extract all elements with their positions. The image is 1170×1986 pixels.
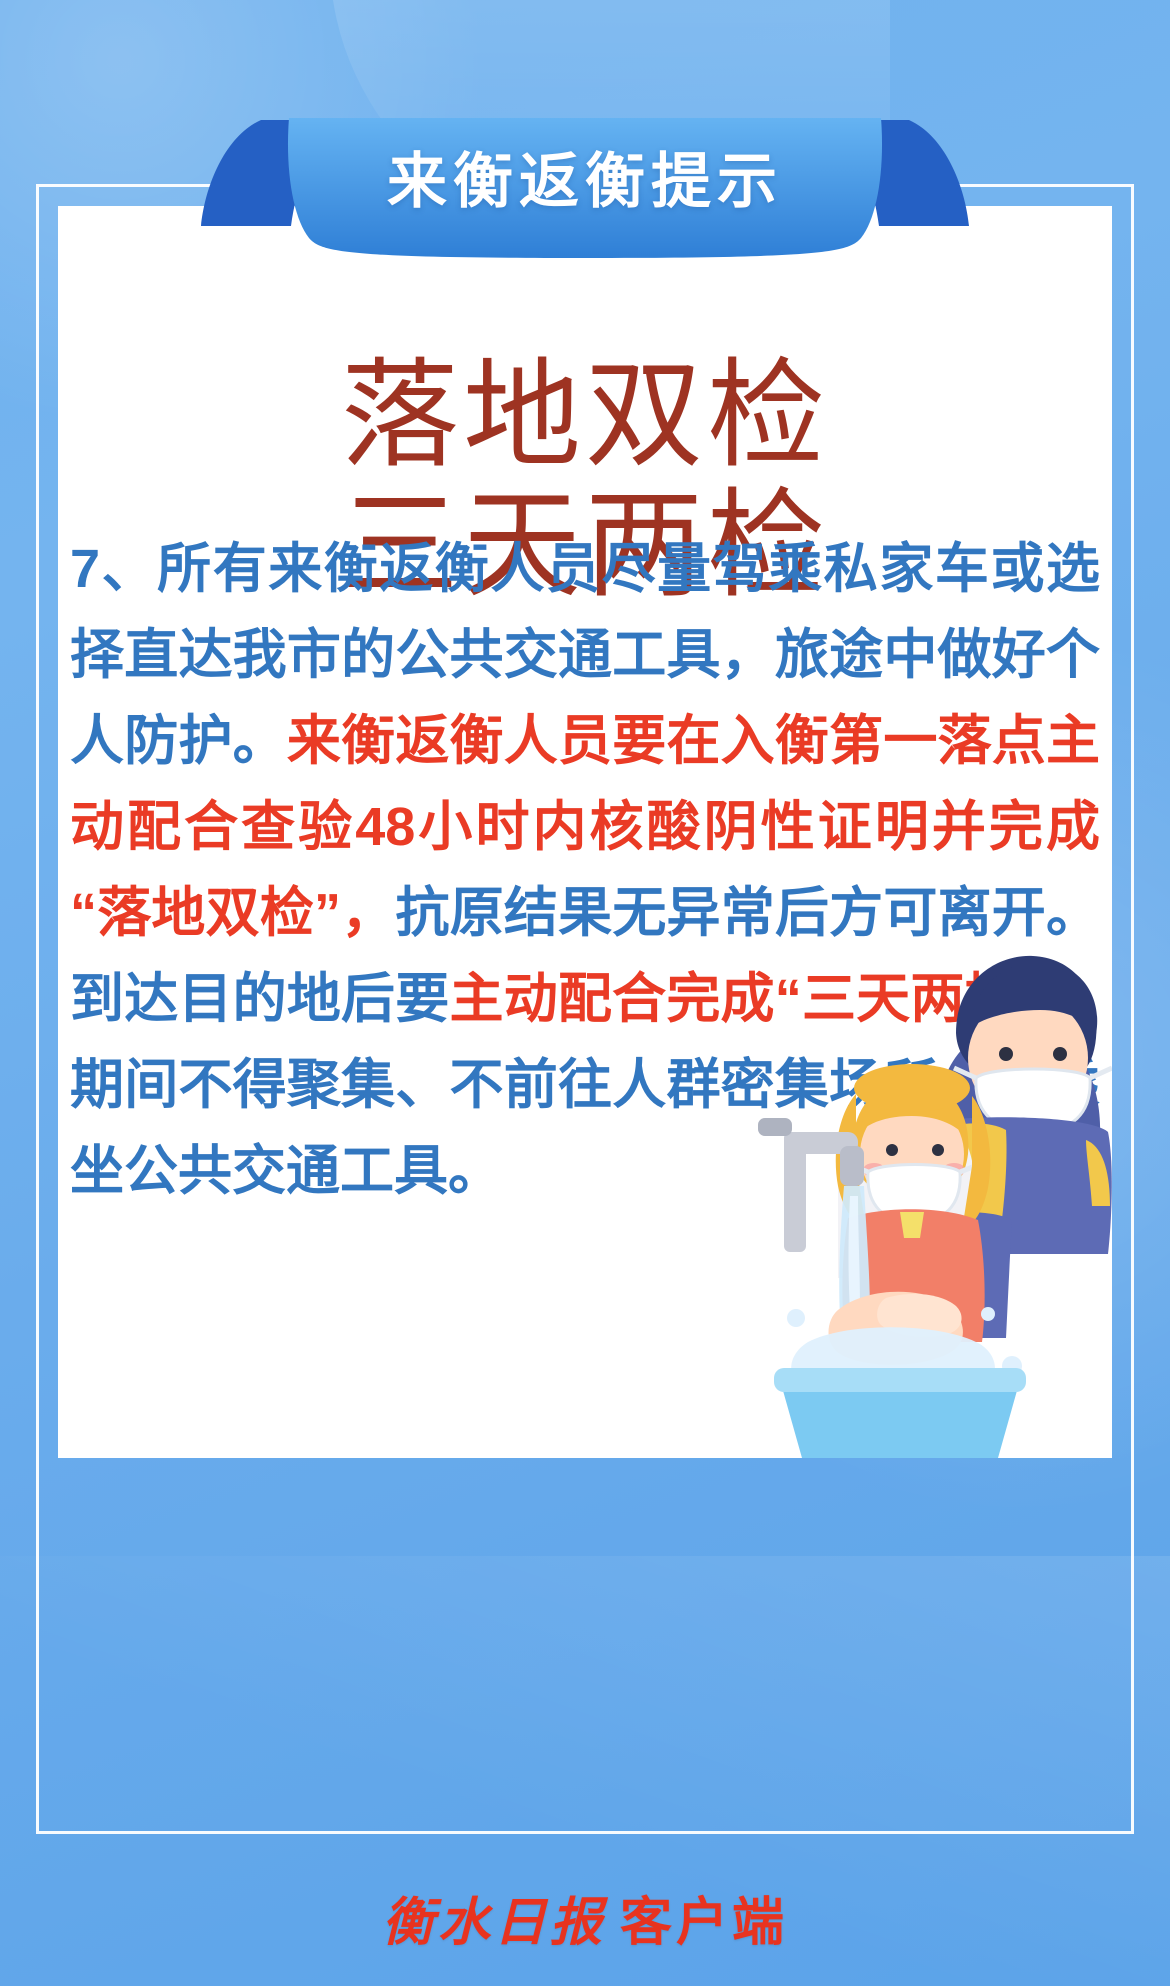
headline-line-1: 落地双检 [341, 350, 829, 482]
header-ribbon: 来衡返衡提示 [185, 110, 985, 265]
poster-root: 落地双检 三天两检 7、所有来衡返衡人员尽量驾乘私家车或选择直达我市的公共交通工… [0, 0, 1170, 1986]
banner-title: 来衡返衡提示 [185, 110, 985, 242]
wash-basin [774, 1368, 1026, 1458]
content-card: 落地双检 三天两检 7、所有来衡返衡人员尽量驾乘私家车或选择直达我市的公共交通工… [58, 206, 1112, 1458]
footer-brand: 衡水日报客户端 [0, 1880, 1170, 1955]
brand-name: 衡水日报 [382, 1895, 606, 1952]
children-washing-hands-illustration [688, 918, 1112, 1458]
brand-suffix: 客户端 [620, 1895, 788, 1952]
